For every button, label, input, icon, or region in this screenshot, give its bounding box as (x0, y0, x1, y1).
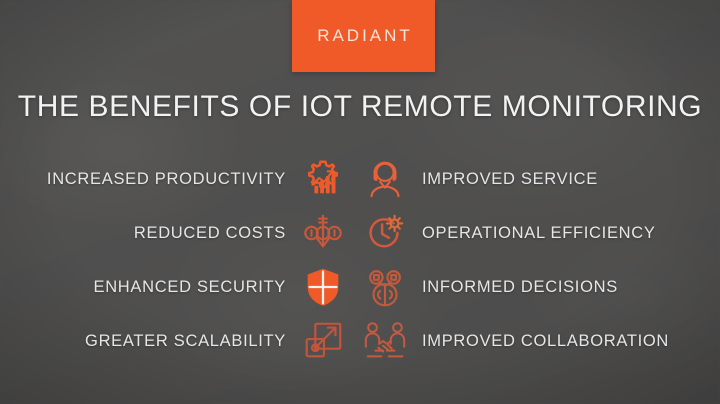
expand-boxes-arrow-icon (300, 318, 346, 364)
benefit-icon-slot (354, 210, 416, 256)
benefit-item-informed-decisions: INFORMED DECISIONS (416, 278, 720, 297)
benefit-label: INFORMED DECISIONS (422, 278, 618, 297)
gear-bar-chart-icon (300, 156, 346, 202)
headset-agent-icon (362, 156, 408, 202)
brand-logo-text: RADIANT (314, 26, 413, 46)
coins-down-arrow-icon (300, 210, 346, 256)
benefit-label: OPERATIONAL EFFICIENCY (422, 224, 656, 243)
benefits-grid: INCREASED PRODUCTIVITY (0, 152, 720, 368)
benefit-label: IMPROVED SERVICE (422, 170, 598, 189)
benefit-icon-slot (292, 264, 354, 310)
benefit-icon-slot (292, 210, 354, 256)
clock-gear-icon (362, 210, 408, 256)
benefit-item-improved-collaboration: IMPROVED COLLABORATION (416, 332, 720, 351)
benefit-item-operational-efficiency: OPERATIONAL EFFICIENCY (416, 224, 720, 243)
benefit-icon-slot (354, 264, 416, 310)
benefit-icon-slot (292, 156, 354, 202)
benefit-row: ENHANCED SECURITY (0, 260, 720, 314)
page-title: THE BENEFITS OF IOT REMOTE MONITORING (0, 90, 720, 124)
brand-logo-badge: RADIANT (292, 0, 435, 72)
benefit-label: REDUCED COSTS (134, 224, 286, 243)
brain-gears-icon (362, 264, 408, 310)
benefit-row: REDUCED COSTS (0, 206, 720, 260)
benefit-row: GREATER SCALABILITY (0, 314, 720, 368)
benefit-label: IMPROVED COLLABORATION (422, 332, 669, 351)
benefit-label: GREATER SCALABILITY (85, 332, 286, 351)
benefit-item-greater-scalability: GREATER SCALABILITY (0, 332, 292, 351)
benefit-item-reduced-costs: REDUCED COSTS (0, 224, 292, 243)
benefit-label: INCREASED PRODUCTIVITY (47, 170, 286, 189)
benefit-icon-slot (354, 156, 416, 202)
benefit-icon-slot (292, 318, 354, 364)
benefit-row: INCREASED PRODUCTIVITY (0, 152, 720, 206)
infographic-slide: RADIANT THE BENEFITS OF IOT REMOTE MONIT… (0, 0, 720, 404)
handshake-people-icon (362, 318, 408, 364)
benefit-item-increased-productivity: INCREASED PRODUCTIVITY (0, 170, 292, 189)
benefit-label: ENHANCED SECURITY (93, 278, 286, 297)
benefit-icon-slot (354, 318, 416, 364)
benefit-item-improved-service: IMPROVED SERVICE (416, 170, 720, 189)
slide-content: RADIANT THE BENEFITS OF IOT REMOTE MONIT… (0, 0, 720, 404)
benefit-item-enhanced-security: ENHANCED SECURITY (0, 278, 292, 297)
shield-icon (300, 264, 346, 310)
